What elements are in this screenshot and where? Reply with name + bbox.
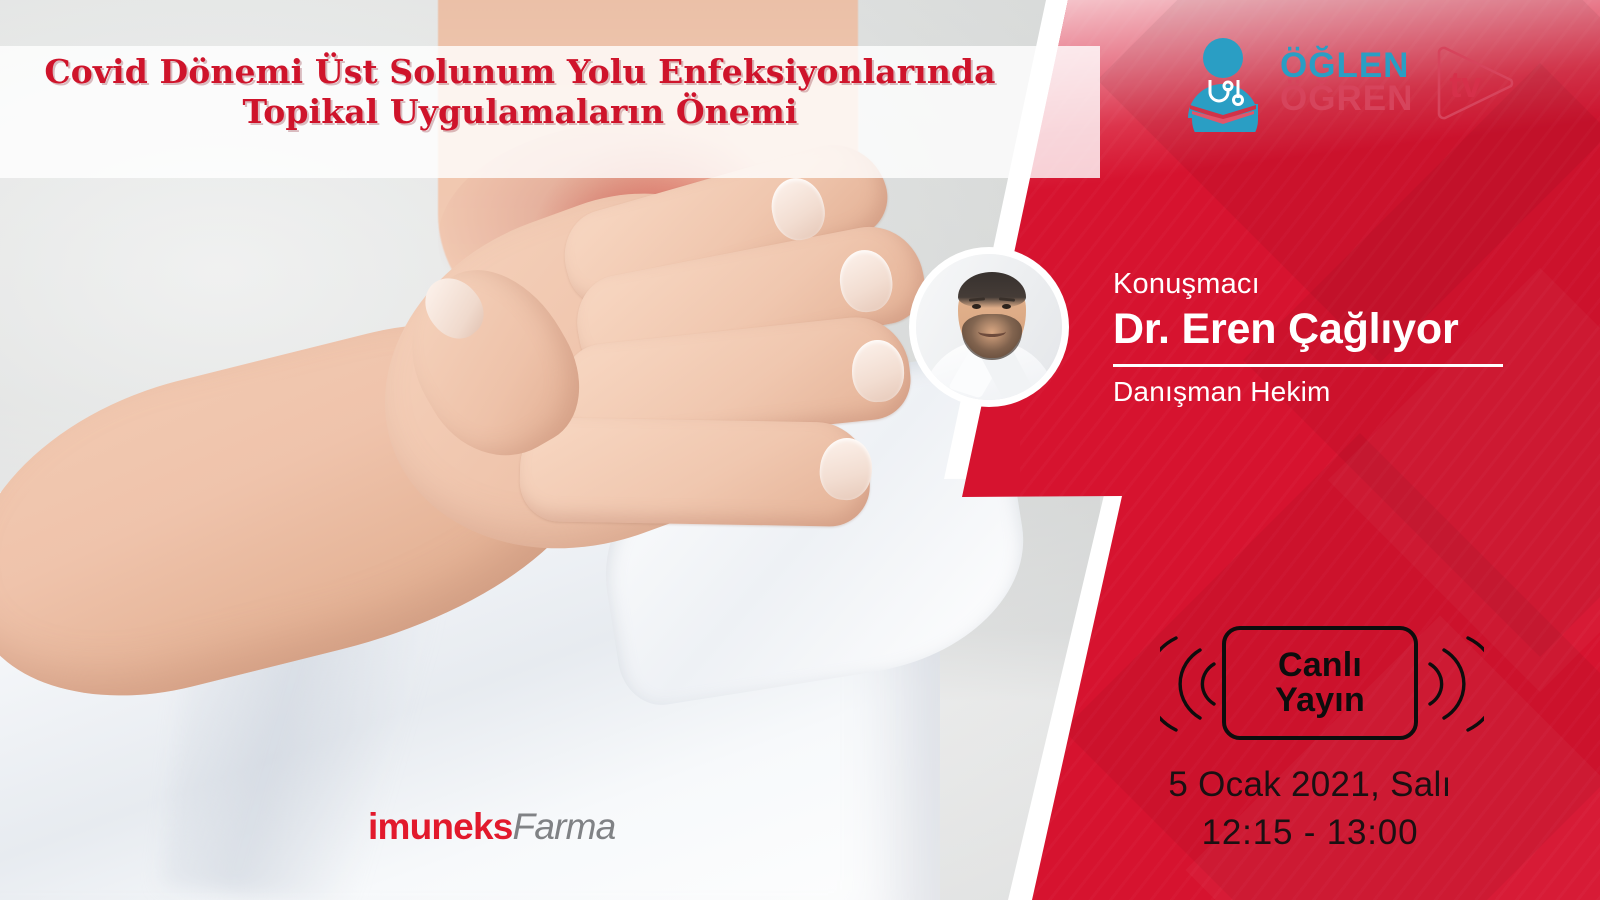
brand-tv-label: tv: [1449, 64, 1481, 106]
live-badge: Canlı Yayın: [1160, 620, 1480, 748]
sponsor-logo: imuneksFarma: [368, 806, 615, 848]
schedule-block: 5 Ocak 2021, Salı 12:15 - 13:00: [1100, 765, 1520, 853]
avatar-eye: [972, 304, 981, 309]
sponsor-name-bold: imuneks: [368, 806, 513, 847]
avatar-smile: [978, 326, 1006, 337]
speaker-name: Dr. Eren Çağlıyor: [1113, 305, 1533, 354]
speaker-label: Konuşmacı: [1113, 268, 1533, 301]
live-badge-box: Canlı Yayın: [1222, 626, 1418, 740]
webinar-poster: Covid Dönemi Üst Solunum Yolu Enfeksiyon…: [0, 0, 1600, 900]
avatar-eye: [1002, 304, 1011, 309]
brand-wordmark: ÖĞLEN ÖĞREN: [1280, 49, 1413, 116]
event-time: 12:15 - 13:00: [1100, 813, 1520, 853]
divider: [1113, 364, 1503, 367]
doctor-with-book-icon: [1180, 32, 1266, 132]
speaker-role: Danışman Hekim: [1113, 376, 1533, 408]
brand-word-bottom: ÖĞREN: [1280, 82, 1413, 115]
sponsor-name-italic: Farma: [513, 806, 616, 847]
photo-finger: [519, 417, 871, 527]
speaker-block: Konuşmacı Dr. Eren Çağlıyor Danışman Hek…: [1113, 268, 1533, 408]
event-date: 5 Ocak 2021, Salı: [1100, 765, 1520, 805]
broadcast-wave-left-icon: [1160, 628, 1226, 740]
broadcast-wave-right-icon: [1418, 628, 1484, 740]
live-label-line-1: Canlı: [1278, 648, 1362, 683]
title-line-2: Topikal Uygulamaların Önemi: [0, 92, 1040, 132]
title-line-1: Covid Dönemi Üst Solunum Yolu Enfeksiyon…: [44, 52, 995, 91]
play-triangle-icon: tv: [1429, 36, 1521, 128]
brand-logo[interactable]: ÖĞLEN ÖĞREN tv: [1180, 32, 1521, 132]
page-title: Covid Dönemi Üst Solunum Yolu Enfeksiyon…: [0, 52, 1040, 131]
avatar: [916, 254, 1062, 400]
live-label-line-2: Yayın: [1275, 683, 1365, 718]
brand-word-top: ÖĞLEN: [1280, 49, 1413, 82]
